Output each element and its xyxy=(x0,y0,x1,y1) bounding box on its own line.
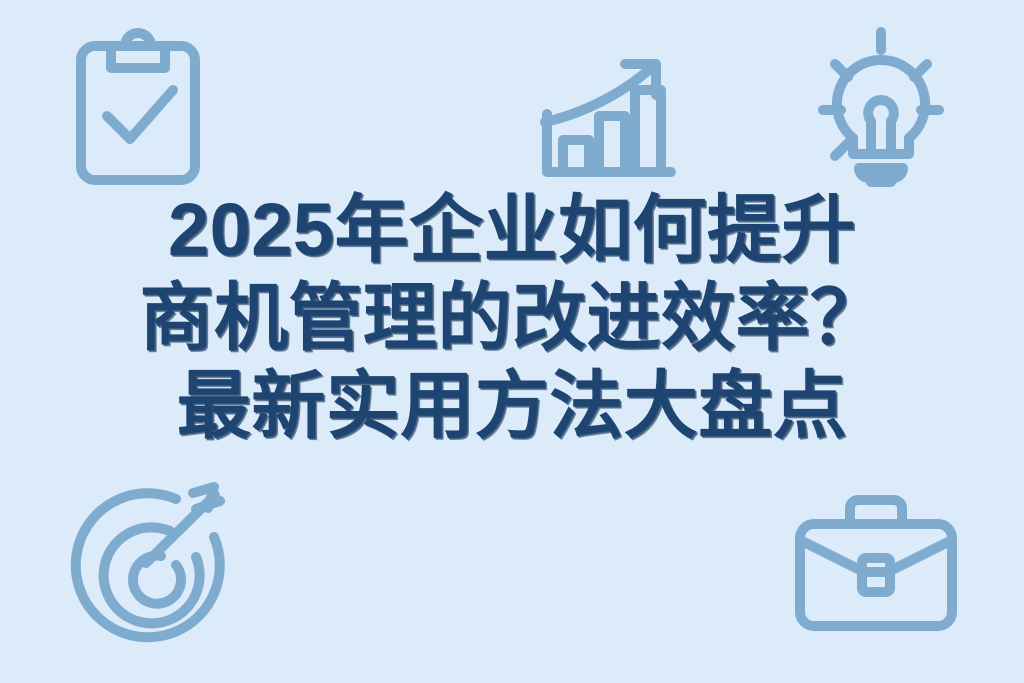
headline-block: 2025年企业如何提升 商机管理的改进效率？ 最新实用方法大盘点 xyxy=(0,186,1024,450)
headline-line-3: 最新实用方法大盘点 xyxy=(0,362,1024,450)
briefcase-icon xyxy=(790,494,962,634)
lightbulb-icon xyxy=(797,26,965,204)
cover-image: 2025年企业如何提升 商机管理的改进效率？ 最新实用方法大盘点 xyxy=(0,0,1024,683)
clipboard-check-icon xyxy=(73,28,203,188)
headline-line-2: 商机管理的改进效率？ xyxy=(0,274,1024,362)
growth-chart-icon xyxy=(537,52,677,182)
target-arrow-icon xyxy=(68,477,236,643)
headline-line-1: 2025年企业如何提升 xyxy=(0,186,1024,274)
